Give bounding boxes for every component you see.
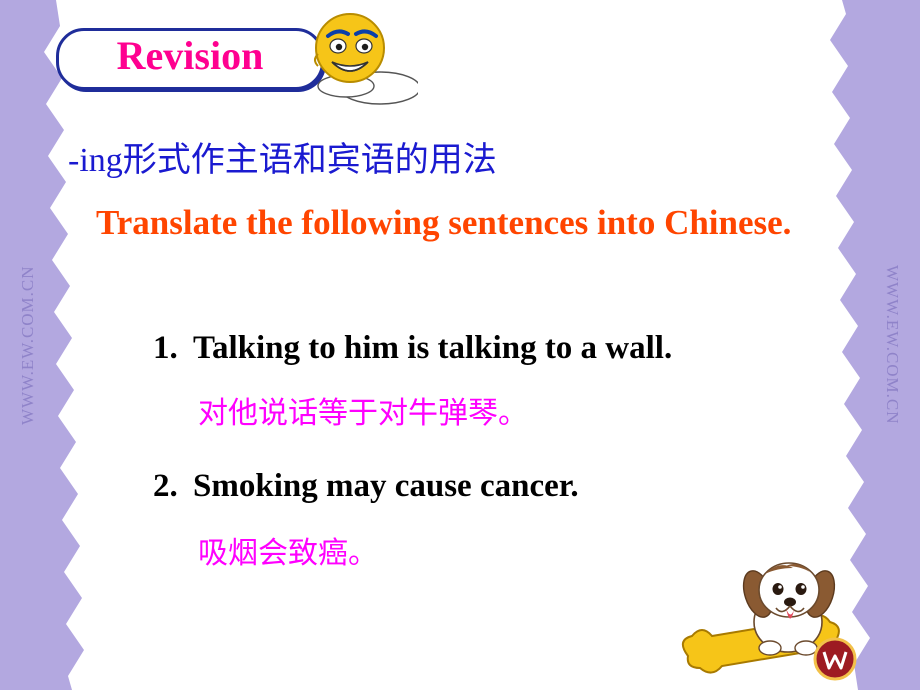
slide-content: Revision -ing形式作主语和宾语的用法 Translate the f… bbox=[48, 0, 872, 690]
item-2-chinese: 吸烟会致癌。 bbox=[198, 528, 378, 572]
item-1-number: 1. bbox=[153, 330, 178, 367]
slide-root: WWW.EW.COM.CN WWW.EW.COM.CN Revision -in… bbox=[0, 0, 920, 690]
item-2-number: 2. bbox=[153, 468, 178, 505]
revision-title: Revision bbox=[70, 31, 310, 81]
subtitle-line: -ing形式作主语和宾语的用法 bbox=[68, 132, 497, 181]
logo-badge-icon bbox=[812, 636, 858, 682]
item-2-english: Smoking may cause cancer. bbox=[193, 468, 579, 505]
item-1-english: Talking to him is talking to a wall. bbox=[193, 330, 672, 367]
item-1-chinese: 对他说话等于对牛弹琴。 bbox=[198, 388, 528, 432]
smiling-face-icon bbox=[288, 10, 418, 110]
instruction-text: Translate the following sentences into C… bbox=[96, 196, 836, 250]
